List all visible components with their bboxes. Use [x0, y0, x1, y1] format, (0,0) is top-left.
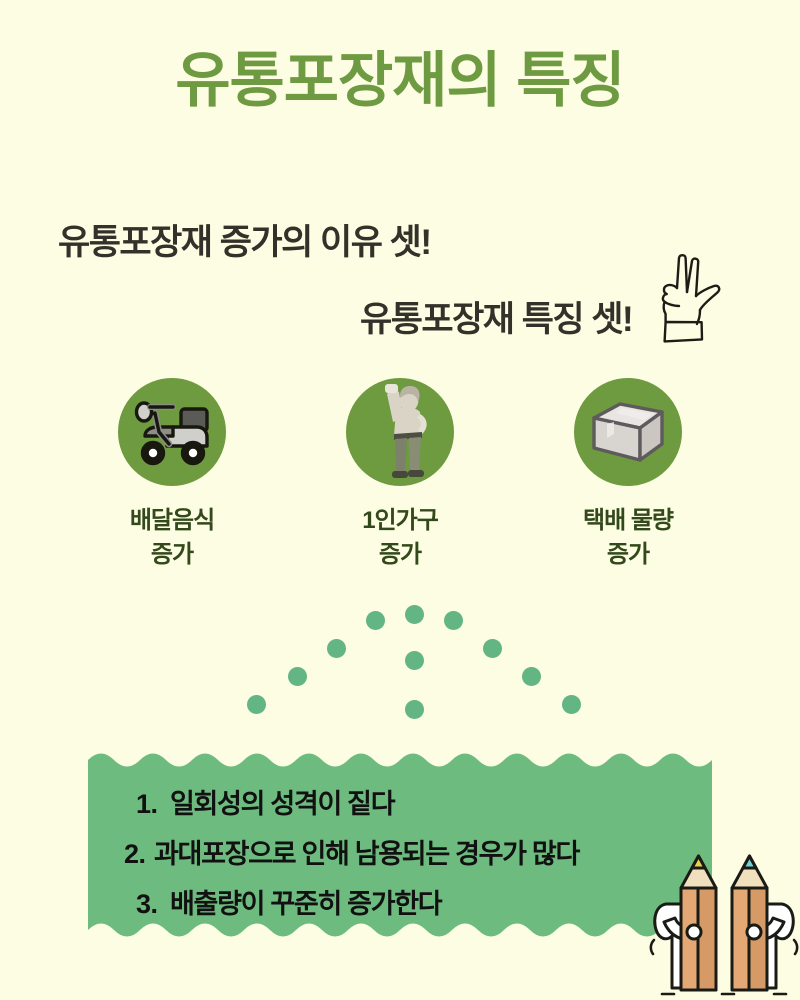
subtitle-features: 유통포장재 특징 셋!	[360, 291, 632, 342]
circle-badge-delivery	[118, 378, 226, 486]
reason-item-delivery-food: 배달음식 증가	[88, 378, 256, 572]
features-list: 1. 일회성의 성격이 짙다 2. 과대포장으로 인해 남용되는 경우가 많다 …	[88, 782, 712, 932]
dot	[444, 611, 463, 630]
feature-number: 3.	[136, 889, 170, 920]
delivery-scooter-icon	[131, 398, 213, 466]
feature-text: 과대포장으로 인해 남용되는 경우가 많다	[154, 832, 579, 871]
circle-badge-parcel	[574, 378, 682, 486]
feature-number: 1.	[136, 789, 170, 820]
reason-label-single-household: 1인가구 증가	[362, 504, 438, 572]
infographic-page: 유통포장재의 특징 유통포장재 증가의 이유 셋! 유통포장재 특징 셋!	[0, 0, 800, 1000]
dot	[366, 611, 385, 630]
dot	[247, 695, 266, 714]
dot	[522, 667, 541, 686]
feature-number: 2.	[124, 839, 154, 870]
dot	[405, 651, 424, 670]
dot	[405, 700, 424, 719]
single-person-household-icon	[365, 382, 435, 482]
reason-item-parcel-volume: 택배 물량 증가	[544, 378, 712, 572]
reason-label-parcel-volume: 택배 물량 증가	[583, 504, 673, 572]
decorative-dots	[0, 595, 800, 735]
parcel-box-icon	[586, 396, 670, 468]
reason-label-delivery-food: 배달음식 증가	[130, 504, 214, 572]
dot	[483, 639, 502, 658]
reason-item-single-household: 1인가구 증가	[316, 378, 484, 572]
reasons-icon-row: 배달음식 증가	[0, 378, 800, 572]
circle-badge-household	[346, 378, 454, 486]
dot	[327, 639, 346, 658]
feature-list-item: 2. 과대포장으로 인해 남용되는 경우가 많다	[124, 832, 712, 871]
two-pencil-characters-icon	[648, 848, 800, 1000]
feature-list-item: 1. 일회성의 성격이 짙다	[136, 782, 712, 821]
feature-list-item: 3. 배출량이 꾸준히 증가한다	[136, 882, 712, 921]
dot	[562, 695, 581, 714]
features-panel: 1. 일회성의 성격이 짙다 2. 과대포장으로 인해 남용되는 경우가 많다 …	[88, 746, 712, 944]
feature-text: 배출량이 꾸준히 증가한다	[170, 882, 441, 921]
dot	[405, 605, 424, 624]
feature-text: 일회성의 성격이 짙다	[170, 782, 394, 821]
hand-three-fingers-icon	[646, 252, 728, 344]
page-title: 유통포장재의 특징	[0, 48, 800, 114]
subtitle-reasons: 유통포장재 증가의 이유 셋!	[58, 214, 431, 265]
subtitle-features-group: 유통포장재 특징 셋!	[360, 288, 728, 344]
dot	[288, 667, 307, 686]
